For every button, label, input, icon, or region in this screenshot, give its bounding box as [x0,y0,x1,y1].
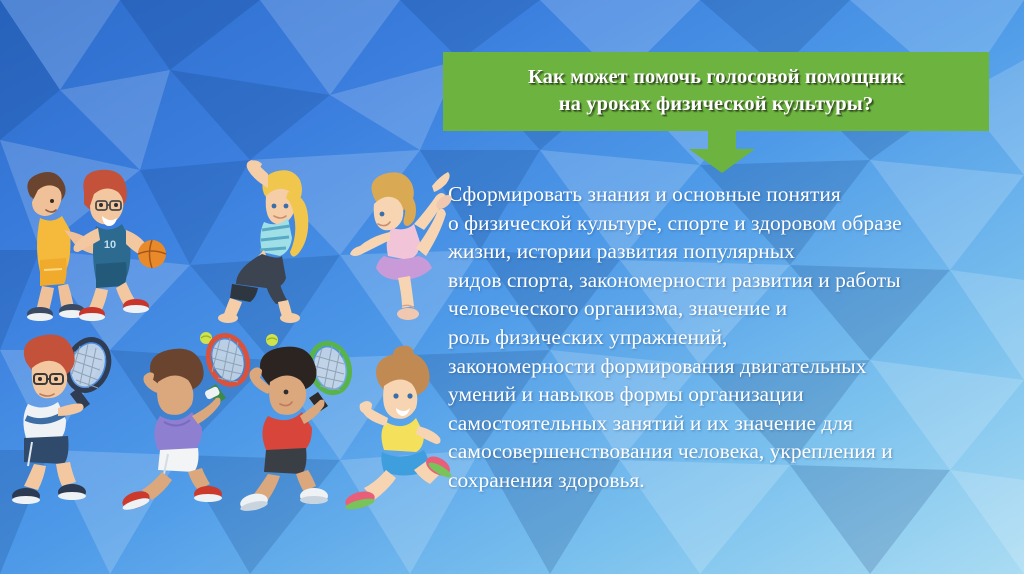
header-banner: Как может помочь голосовой помощник на у… [443,52,989,131]
body-line: видов спорта, закономерности развития и … [448,266,1024,295]
tennis-player-red [239,334,356,513]
body-line: самостоятельных занятий и их значение дл… [448,409,1024,438]
body-line: жизни, истории развития популярных [448,237,1024,266]
illustration-ballerina-girl [348,160,452,324]
running-girl [344,346,454,512]
banner-line-2: на уроках физической культуры? [559,91,874,118]
body-line: сохранения здоровья. [448,466,1024,495]
body-line: закономерности формирования двигательных [448,352,1024,381]
tennis-player-purple [120,330,254,512]
tennis-player-redhair [12,334,116,504]
down-arrow-icon [683,131,761,173]
slide-root: Как может помочь голосовой помощник на у… [0,0,1024,574]
banner-line-1: Как может помочь голосовой помощник [528,64,904,91]
illustration-basketball-group: 10 [0,168,175,323]
body-line: о физической культуре, спорте и здоровом… [448,209,1024,238]
body-text-block: Сформировать знания и основные понятия о… [448,180,1024,495]
body-line: роль физических упражнений, [448,323,1024,352]
body-line: человеческого организма, значение и [448,294,1024,323]
basketball-player-blue: 10 [74,170,167,321]
body-line: умений и навыков формы организации [448,380,1024,409]
body-line: Сформировать знания и основные понятия [448,180,1024,209]
body-line: самосовершенствования человека, укреплен… [448,437,1024,466]
illustration-tennis-group [0,330,470,515]
svg-text:10: 10 [104,239,116,251]
illustration-stretching-girl [204,158,314,324]
